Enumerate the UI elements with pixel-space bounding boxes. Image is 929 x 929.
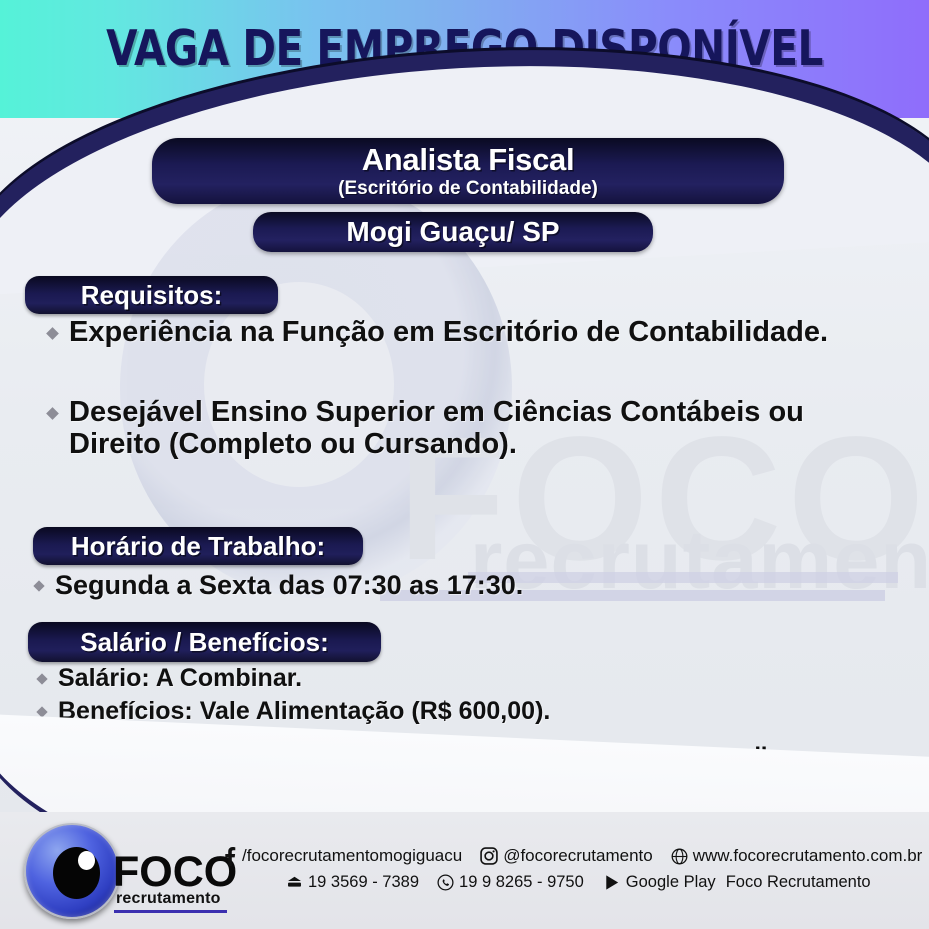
eye-highlight — [78, 851, 95, 870]
schedule-text: Segunda a Sexta das 07:30 as 17:30. — [55, 570, 523, 600]
requirement-text: Desejável Ensino Superior em Ciências Co… — [69, 396, 888, 461]
section-label-salary: Salário / Benefícios: — [28, 622, 381, 662]
whatsapp-contact[interactable]: 19 9 8265 - 9750 — [437, 873, 584, 892]
bullet-icon — [46, 407, 59, 420]
googleplay-contact[interactable]: Google Play Foco Recrutamento — [602, 873, 871, 892]
list-item: Benefícios: Vale Alimentação (R$ 600,00)… — [38, 697, 898, 725]
job-title: Analista Fiscal — [152, 142, 784, 178]
logo-tagline: recrutamento — [116, 890, 221, 908]
logo-underline — [114, 910, 227, 913]
landline-phone-icon — [286, 875, 303, 890]
facebook-contact[interactable]: /focorecrutamentomogiguacu — [222, 846, 462, 866]
website-contact[interactable]: www.focorecrutamento.com.br — [671, 846, 923, 866]
facebook-icon — [222, 847, 237, 866]
eye-icon — [24, 823, 120, 919]
job-title-pill: Analista Fiscal (Escritório de Contabili… — [152, 138, 784, 204]
instagram-icon — [480, 847, 498, 865]
section-label-requirements: Requisitos: — [25, 276, 278, 314]
job-location-pill: Mogi Guaçu/ SP — [253, 212, 653, 252]
list-item: Experiência na Função em Escritório de C… — [48, 316, 908, 348]
instagram-contact[interactable]: @focorecrutamento — [480, 846, 653, 866]
list-item: Segunda a Sexta das 07:30 as 17:30. — [35, 570, 895, 600]
bullet-icon — [46, 327, 59, 340]
phone-contact[interactable]: 19 3569 - 7389 — [286, 873, 419, 892]
whatsapp-number: 19 9 8265 - 9750 — [459, 873, 584, 892]
googleplay-app-name: Foco Recrutamento — [726, 873, 871, 892]
bullet-icon — [33, 580, 44, 591]
job-vacancy-poster: VAGA DE EMPREGO DISPONÍVEL FOCO recrutam… — [0, 0, 929, 929]
requirement-text: Experiência na Função em Escritório de C… — [69, 316, 828, 348]
salary-text: Salário: A Combinar. — [58, 664, 302, 692]
bullet-icon — [36, 673, 47, 684]
googleplay-label: Google Play — [626, 873, 716, 892]
instagram-handle: @focorecrutamento — [503, 846, 653, 866]
play-triangle-icon — [602, 873, 621, 892]
list-item: Desejável Ensino Superior em Ciências Co… — [48, 396, 888, 461]
globe-icon — [671, 848, 688, 865]
job-subtitle: (Escritório de Contabilidade) — [152, 178, 784, 200]
section-label-schedule: Horário de Trabalho: — [33, 527, 363, 565]
facebook-handle: /focorecrutamentomogiguacu — [242, 846, 462, 866]
contact-info: /focorecrutamentomogiguacu @focorecrutam… — [222, 846, 922, 892]
phone-number: 19 3569 - 7389 — [308, 873, 419, 892]
whatsapp-icon — [437, 874, 454, 891]
job-location: Mogi Guaçu/ SP — [253, 215, 653, 249]
list-item: Salário: A Combinar. — [38, 664, 898, 692]
website-url: www.focorecrutamento.com.br — [693, 846, 923, 866]
company-logo: FOCO recrutamento — [18, 818, 233, 918]
